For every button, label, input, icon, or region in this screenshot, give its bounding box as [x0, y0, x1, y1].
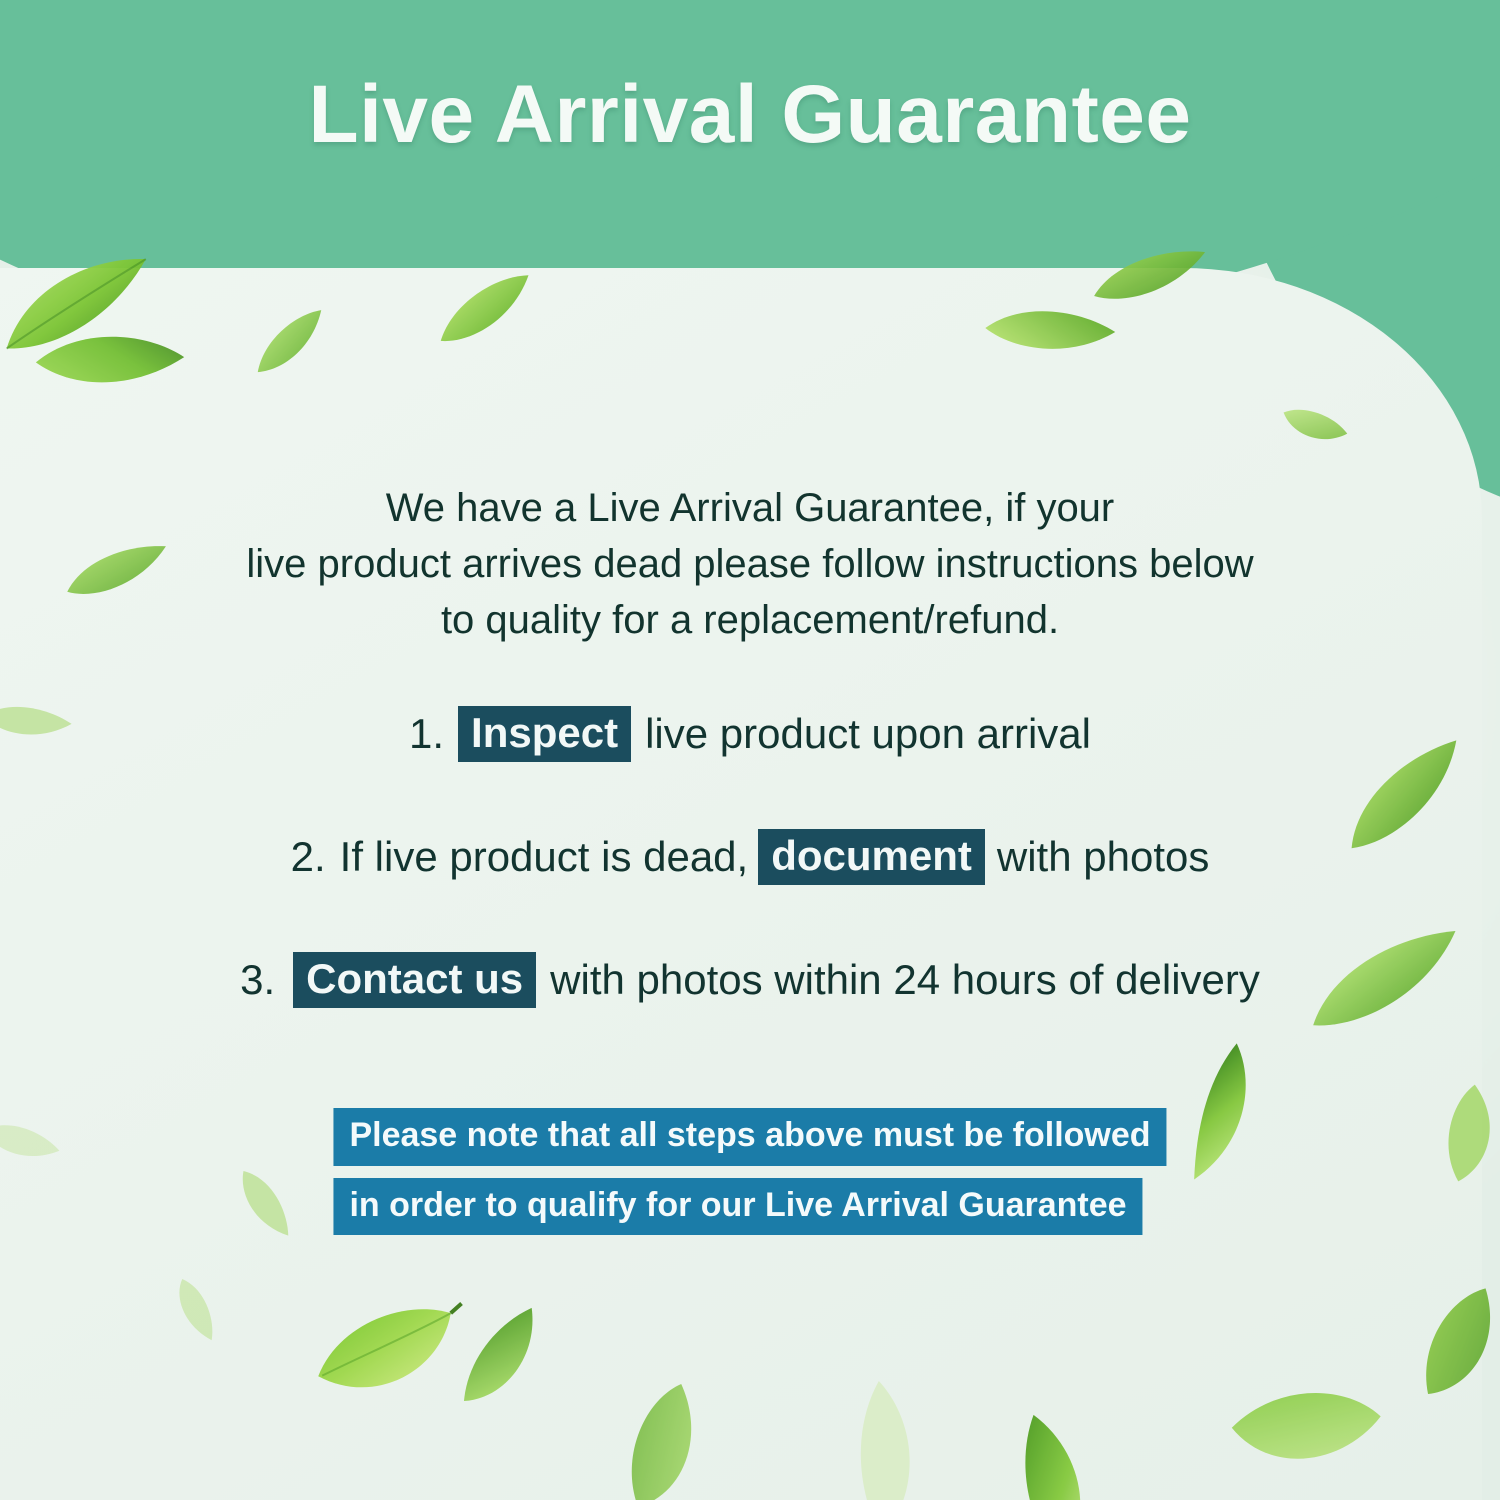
step-number: 2. [291, 833, 326, 881]
intro-line-2: live product arrives dead please follow … [160, 536, 1340, 592]
intro-paragraph: We have a Live Arrival Guarantee, if you… [160, 480, 1340, 648]
live-arrival-guarantee-graphic: Live Arrival Guarantee We have a Live Ar… [0, 0, 1500, 1500]
step-item-1: 1. Inspect live product upon arrival [0, 706, 1500, 762]
step-text: with photos [997, 833, 1209, 881]
footer-note-line-1: Please note that all steps above must be… [333, 1108, 1166, 1166]
step-text: with photos within 24 hours of delivery [550, 956, 1260, 1004]
footer-note-line-2: in order to qualify for our Live Arrival… [333, 1178, 1142, 1236]
step-highlight-contact-us[interactable]: Contact us [293, 952, 536, 1008]
intro-line-3: to quality for a replacement/refund. [160, 592, 1340, 648]
step-text-lead: If live product is dead, [340, 833, 749, 881]
page-title: Live Arrival Guarantee [0, 74, 1500, 156]
step-number: 1. [409, 710, 444, 758]
footer-note: Please note that all steps above must be… [333, 1108, 1166, 1235]
step-item-3: 3. Contact us with photos within 24 hour… [0, 952, 1500, 1008]
steps-list: 1. Inspect live product upon arrival 2. … [0, 706, 1500, 1075]
step-highlight-document: document [758, 829, 985, 885]
step-highlight-inspect: Inspect [458, 706, 631, 762]
step-text: live product upon arrival [645, 710, 1091, 758]
step-number: 3. [240, 956, 275, 1004]
step-item-2: 2. If live product is dead, document wit… [0, 829, 1500, 885]
intro-line-1: We have a Live Arrival Guarantee, if you… [160, 480, 1340, 536]
